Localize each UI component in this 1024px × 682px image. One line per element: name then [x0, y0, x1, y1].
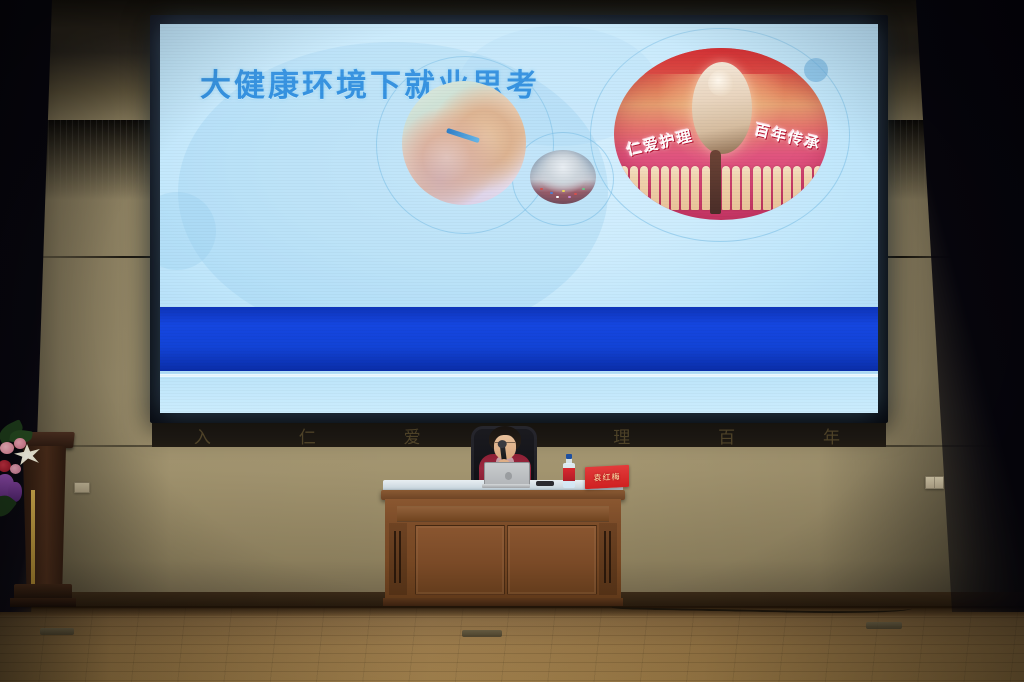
pink-rose [0, 442, 14, 454]
name-plate: 袁红梅 [585, 465, 629, 489]
pill-speck [540, 188, 543, 190]
name-plate-text: 袁红梅 [594, 471, 621, 483]
desk-side-right [599, 523, 617, 595]
pink-rose [14, 438, 26, 449]
speaker-podium [8, 432, 78, 617]
desk-plinth [383, 598, 623, 606]
flower-arrangement [0, 424, 58, 534]
floor-vent-right [866, 622, 902, 629]
presentation-slide: 大健康环境下就业思考 [160, 24, 878, 413]
desk-panel-right [507, 525, 597, 595]
pill-speck [582, 188, 585, 190]
under-band-glyph: 百 [718, 423, 739, 447]
desk-rail [397, 506, 609, 522]
laptop-base [482, 484, 530, 488]
wall-outlet-plate-right[interactable] [925, 476, 944, 489]
under-band-glyph: 入 [194, 423, 215, 447]
projection-screen: 大健康环境下就业思考 [160, 24, 878, 413]
photo-shading [402, 81, 526, 205]
hall-floor [0, 608, 1024, 682]
pill-speck [550, 192, 553, 194]
desk-side-left [389, 523, 407, 595]
pill-speck [556, 196, 559, 198]
floor-vent-center [462, 630, 502, 637]
water-bottle[interactable] [563, 454, 575, 488]
nursing-injection-photo [402, 81, 526, 205]
under-band-glyph: 理 [613, 423, 634, 447]
desk-panel-left [415, 525, 505, 595]
bottle-label [563, 468, 575, 481]
under-band-glyph: 仁 [299, 423, 320, 447]
bottle-cap [566, 454, 572, 459]
conference-desk [383, 480, 623, 610]
under-band-glyph: 爱 [404, 423, 425, 447]
macbook-laptop[interactable] [482, 462, 530, 488]
nursing-ceremony-photo: 仁爱护理 百年传承 [614, 48, 828, 220]
desk-front [385, 499, 621, 603]
medicine-bottles-photo [530, 150, 596, 204]
apple-logo-icon [505, 472, 512, 480]
desk-remote[interactable] [536, 481, 554, 486]
photo-scene: 大健康环境下就业思考 [0, 0, 1024, 682]
floor-vent-left [40, 628, 74, 635]
podium-plinth [10, 598, 76, 607]
nurse-choir-row [614, 148, 828, 210]
pink-rose [10, 464, 21, 474]
under-band-glyph: 年 [823, 423, 844, 447]
choir-conductor [710, 150, 721, 214]
pill-speck [568, 196, 571, 198]
pill-speck [574, 193, 577, 195]
slide-blue-band [160, 307, 878, 371]
nightingale-portrait [692, 62, 752, 154]
pill-speck [562, 190, 565, 192]
projection-screen-frame: 大健康环境下就业思考 [150, 15, 888, 423]
slide-footer-area [160, 377, 878, 413]
